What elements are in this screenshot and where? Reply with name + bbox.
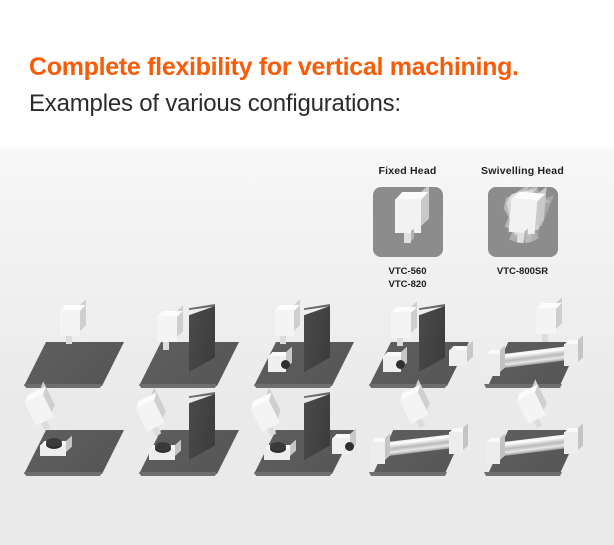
head-type-swivelling: Swivelling Head VTC-800SR — [470, 165, 575, 278]
page-subtitle: Examples of various configurations: — [29, 90, 401, 118]
head-type-fixed-models: VTC-560 VTC-820 — [355, 265, 460, 291]
machine-config-tilted-head-rotary-icon — [18, 388, 136, 483]
head-type-fixed: Fixed Head VTC-560 VTC-820 — [355, 165, 460, 291]
machine-config-tilted-head-wall-two-fixtures-icon — [248, 388, 366, 483]
head-type-swivelling-models: VTC-800SR — [470, 265, 575, 278]
machine-config-tilted-head-trunnion-icon — [363, 388, 481, 483]
page-title: Complete flexibility for vertical machin… — [29, 53, 519, 82]
fixed-spindle-head-icon — [373, 187, 443, 257]
machine-config-table-with-wall-icon — [133, 300, 251, 395]
machine-config-flat-table-icon — [18, 300, 136, 395]
machine-config-wall-with-two-fixtures-icon — [363, 300, 481, 395]
machine-config-tilted-head-wall-rotary-icon — [133, 388, 251, 483]
head-type-legend: Fixed Head VTC-560 VTC-820 Swivelling He… — [355, 165, 585, 305]
head-type-swivelling-label: Swivelling Head — [470, 165, 575, 177]
head-type-fixed-label: Fixed Head — [355, 165, 460, 177]
configuration-grid — [0, 300, 614, 490]
machine-config-wall-with-rotary-icon — [248, 300, 366, 395]
machine-config-tilted-head-trunnion-wide-icon — [478, 388, 596, 483]
model-label: VTC-800SR — [470, 265, 575, 278]
model-label: VTC-560 — [355, 265, 460, 278]
machine-config-trunnion-icon — [478, 300, 596, 395]
slide-canvas: Complete flexibility for vertical machin… — [0, 0, 614, 545]
model-label: VTC-820 — [355, 278, 460, 291]
swivelling-spindle-head-icon — [488, 187, 558, 257]
